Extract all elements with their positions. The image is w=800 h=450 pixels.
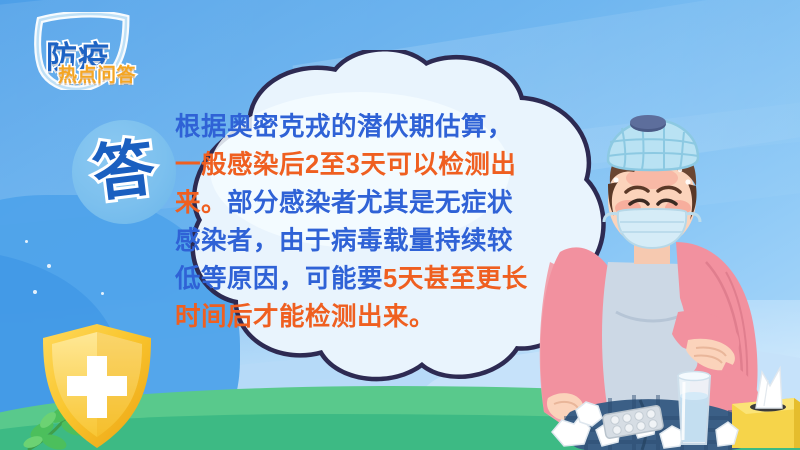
face-mask: [618, 209, 686, 248]
text-segment: 感染者，由于病毒载量持续较: [175, 227, 513, 255]
bubble-text-line: 来。部分感染者尤其是无症状: [175, 184, 565, 222]
bubble-text-block: 根据奥密克戎的潜伏期估算， 一般感染后2至3天可以检测出 来。部分感染者尤其是无…: [175, 108, 565, 336]
sweat-drop: [613, 177, 618, 182]
sparkle-dot: [101, 292, 104, 295]
text-segment: 5天甚至更长: [383, 265, 528, 293]
text-segment: 时间后才能检测出来。: [175, 303, 435, 331]
bubble-text-line: 低等原因，可能要5天甚至更长: [175, 260, 565, 298]
text-segment: 低等原因，可能要: [175, 265, 383, 293]
text-segment: 一般感染后2至3天可以检测出: [175, 151, 516, 179]
epidemic-prevention-logo: 防疫 热点问答: [10, 12, 160, 90]
text-segment: 部分感染者尤其是无症状: [227, 189, 513, 217]
logo-sub-text: 热点问答: [58, 60, 136, 87]
bubble-text-line: 根据奥密克戎的潜伏期估算，: [175, 108, 565, 146]
sparkle-dot: [47, 264, 51, 268]
water-glass-icon: [678, 372, 710, 445]
text-segment: 来。: [175, 189, 227, 217]
poster-canvas: 防疫 热点问答 答 根据奥密克戎的潜伏期估算， 一般感染后2至3天可以检测出 来…: [0, 0, 800, 450]
ice-pack-icon: [608, 115, 698, 170]
bedside-props: [550, 360, 800, 450]
medical-shield-icon: [38, 322, 156, 450]
sparkle-dot: [33, 290, 37, 294]
bubble-text-line: 感染者，由于病毒载量持续较: [175, 222, 565, 260]
tissue-box-icon: [732, 368, 800, 448]
sparkle-dot: [25, 240, 28, 243]
text-segment: 根据奥密克戎的潜伏期估算，: [175, 113, 513, 141]
bubble-text-line: 一般感染后2至3天可以检测出: [175, 146, 565, 184]
bubble-text-line: 时间后才能检测出来。: [175, 298, 565, 336]
sweat-drop: [685, 179, 690, 184]
